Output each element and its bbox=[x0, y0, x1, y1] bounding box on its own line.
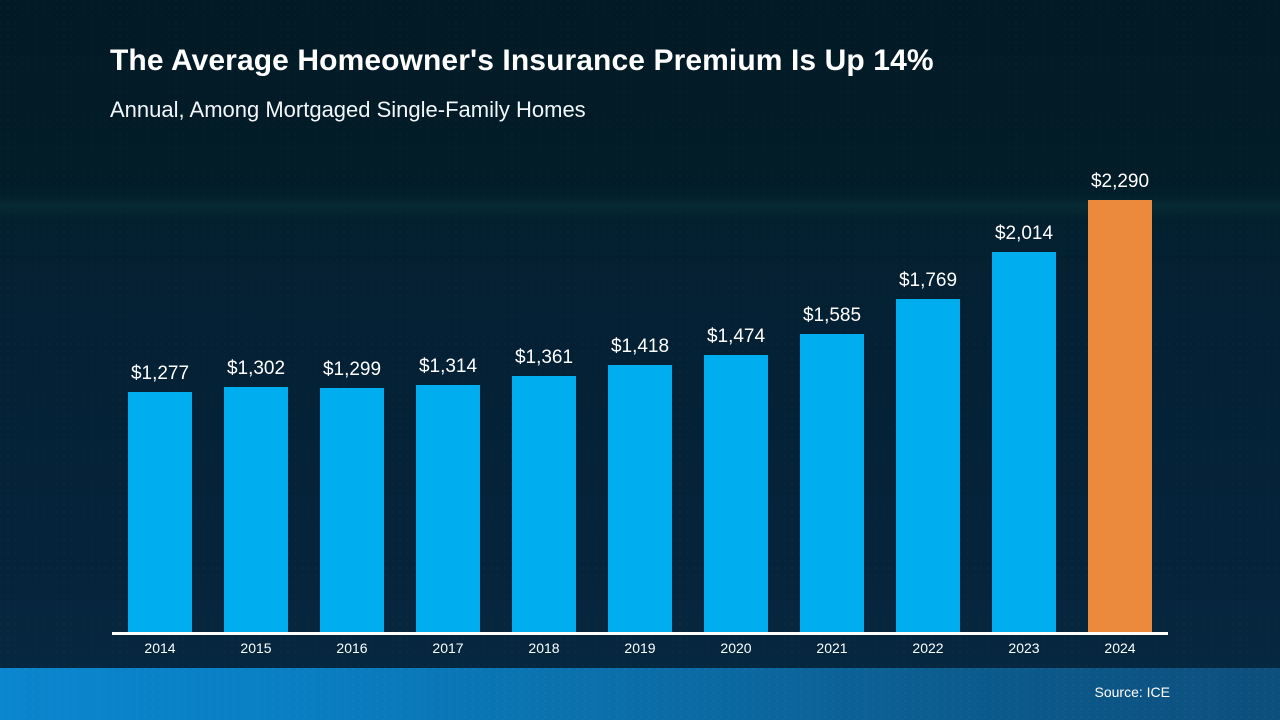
bar-group-2016[interactable]: $1,299 bbox=[304, 150, 400, 634]
x-axis-label-2023: 2023 bbox=[976, 640, 1072, 656]
x-axis-label-2014: 2014 bbox=[112, 640, 208, 656]
x-axis-label-2020: 2020 bbox=[688, 640, 784, 656]
bar-group-2021[interactable]: $1,585 bbox=[784, 150, 880, 634]
bar-2021[interactable] bbox=[800, 334, 864, 634]
bar-value-label-2014: $1,277 bbox=[112, 363, 208, 385]
bar-group-2020[interactable]: $1,474 bbox=[688, 150, 784, 634]
x-axis-label-2019: 2019 bbox=[592, 640, 688, 656]
bar-2014[interactable] bbox=[128, 392, 192, 634]
footer-band: Source: ICE bbox=[0, 668, 1280, 720]
bar-value-label-2024: $2,290 bbox=[1072, 171, 1168, 193]
chart-subtitle: Annual, Among Mortgaged Single-Family Ho… bbox=[110, 97, 1210, 122]
bar-value-label-2017: $1,314 bbox=[400, 356, 496, 378]
bar-group-2018[interactable]: $1,361 bbox=[496, 150, 592, 634]
footer-texture bbox=[0, 668, 1280, 720]
bar-group-2023[interactable]: $2,014 bbox=[976, 150, 1072, 634]
x-axis-line bbox=[112, 632, 1168, 635]
chart-header: The Average Homeowner's Insurance Premiu… bbox=[110, 44, 1210, 122]
bar-group-2024[interactable]: $2,290 bbox=[1072, 150, 1168, 634]
x-axis-label-2021: 2021 bbox=[784, 640, 880, 656]
bar-value-label-2021: $1,585 bbox=[784, 305, 880, 327]
bar-2015[interactable] bbox=[224, 387, 288, 634]
bar-2019[interactable] bbox=[608, 365, 672, 634]
x-axis-label-2015: 2015 bbox=[208, 640, 304, 656]
x-axis-label-2017: 2017 bbox=[400, 640, 496, 656]
bar-2018[interactable] bbox=[512, 376, 576, 634]
bar-2017[interactable] bbox=[416, 385, 480, 634]
bar-2020[interactable] bbox=[704, 355, 768, 634]
x-axis-label-2024: 2024 bbox=[1072, 640, 1168, 656]
x-axis-label-2022: 2022 bbox=[880, 640, 976, 656]
chart-title: The Average Homeowner's Insurance Premiu… bbox=[110, 44, 1210, 79]
x-axis-labels: 2014201520162017201820192020202120222023… bbox=[112, 640, 1168, 664]
bar-2022[interactable] bbox=[896, 299, 960, 634]
x-axis-label-2018: 2018 bbox=[496, 640, 592, 656]
bar-group-2022[interactable]: $1,769 bbox=[880, 150, 976, 634]
bar-value-label-2016: $1,299 bbox=[304, 359, 400, 381]
bar-group-2015[interactable]: $1,302 bbox=[208, 150, 304, 634]
bar-value-label-2019: $1,418 bbox=[592, 336, 688, 358]
bar-value-label-2018: $1,361 bbox=[496, 347, 592, 369]
source-label: Source: ICE bbox=[1095, 684, 1170, 700]
bar-value-label-2015: $1,302 bbox=[208, 358, 304, 380]
bar-value-label-2020: $1,474 bbox=[688, 326, 784, 348]
bar-value-label-2023: $2,014 bbox=[976, 223, 1072, 245]
bar-2024[interactable] bbox=[1088, 200, 1152, 634]
bar-group-2014[interactable]: $1,277 bbox=[112, 150, 208, 634]
bar-2016[interactable] bbox=[320, 388, 384, 634]
chart-slide: The Average Homeowner's Insurance Premiu… bbox=[0, 0, 1280, 720]
x-axis-label-2016: 2016 bbox=[304, 640, 400, 656]
bar-chart-plot-area: $1,277$1,302$1,299$1,314$1,361$1,418$1,4… bbox=[112, 150, 1168, 634]
bar-value-label-2022: $1,769 bbox=[880, 270, 976, 292]
bar-group-2019[interactable]: $1,418 bbox=[592, 150, 688, 634]
bar-2023[interactable] bbox=[992, 252, 1056, 634]
bar-group-2017[interactable]: $1,314 bbox=[400, 150, 496, 634]
